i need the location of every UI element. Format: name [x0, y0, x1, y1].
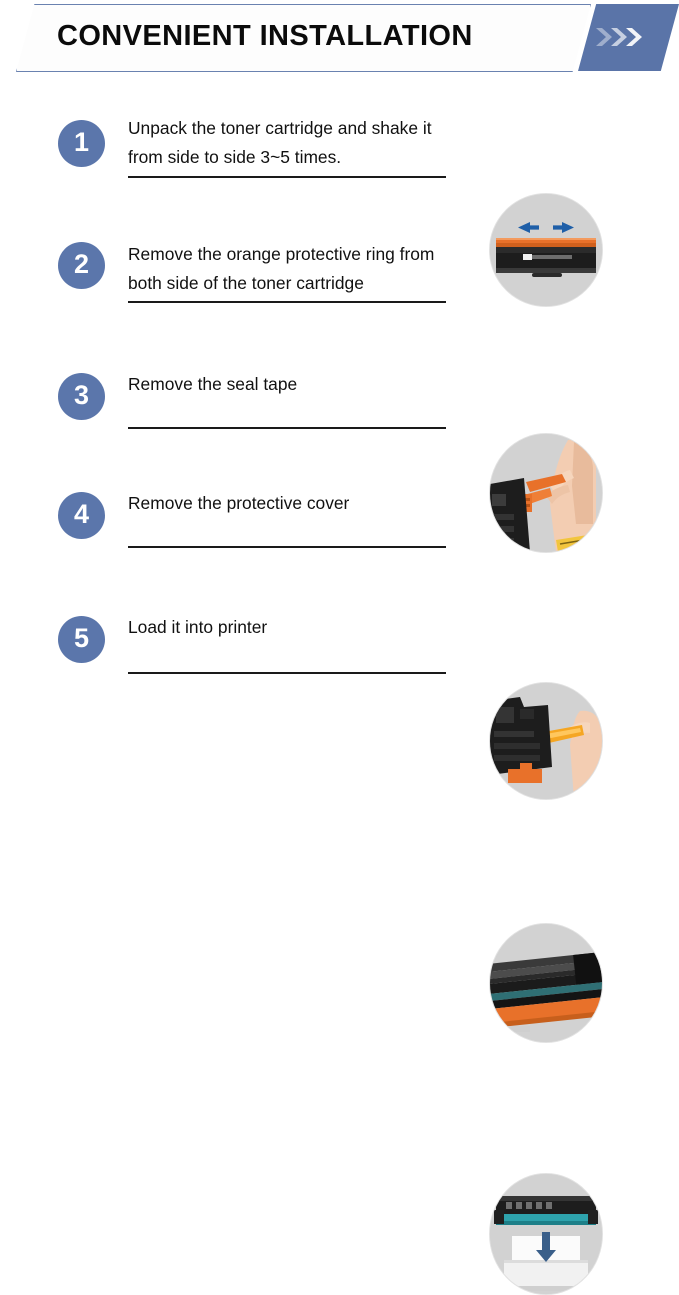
- step-divider: [128, 176, 446, 178]
- remove-protective-cover-image: [489, 923, 603, 1043]
- step-row: 2 Remove the orange protective ring from…: [0, 216, 679, 336]
- step-row: 3 Remove the seal tape: [0, 340, 679, 460]
- step-divider: [128, 546, 446, 548]
- page-title: CONVENIENT INSTALLATION: [57, 18, 557, 54]
- step-description: Remove the protective cover: [128, 489, 468, 518]
- step-number-badge: 2: [58, 242, 105, 289]
- step-divider: [128, 672, 446, 674]
- step-number-badge: 5: [58, 616, 105, 663]
- step-row: 4 Remove the protective cover: [0, 461, 679, 581]
- step-description: Load it into printer: [128, 613, 468, 642]
- step-row: 5 Load it into printer: [0, 586, 679, 706]
- load-into-printer-image: [489, 1173, 603, 1295]
- step-number-badge: 4: [58, 492, 105, 539]
- step-description: Unpack the toner cartridge and shake it …: [128, 114, 468, 172]
- step-number-badge: 3: [58, 373, 105, 420]
- step-number-badge: 1: [58, 120, 105, 167]
- step-divider: [128, 301, 446, 303]
- step-description: Remove the seal tape: [128, 370, 468, 399]
- step-divider: [128, 427, 446, 429]
- header-banner: CONVENIENT INSTALLATION: [0, 0, 679, 78]
- step-description: Remove the orange protective ring from b…: [128, 240, 468, 298]
- double-chevron-right-icon: [594, 23, 654, 51]
- step-row: 1 Unpack the toner cartridge and shake i…: [0, 96, 679, 216]
